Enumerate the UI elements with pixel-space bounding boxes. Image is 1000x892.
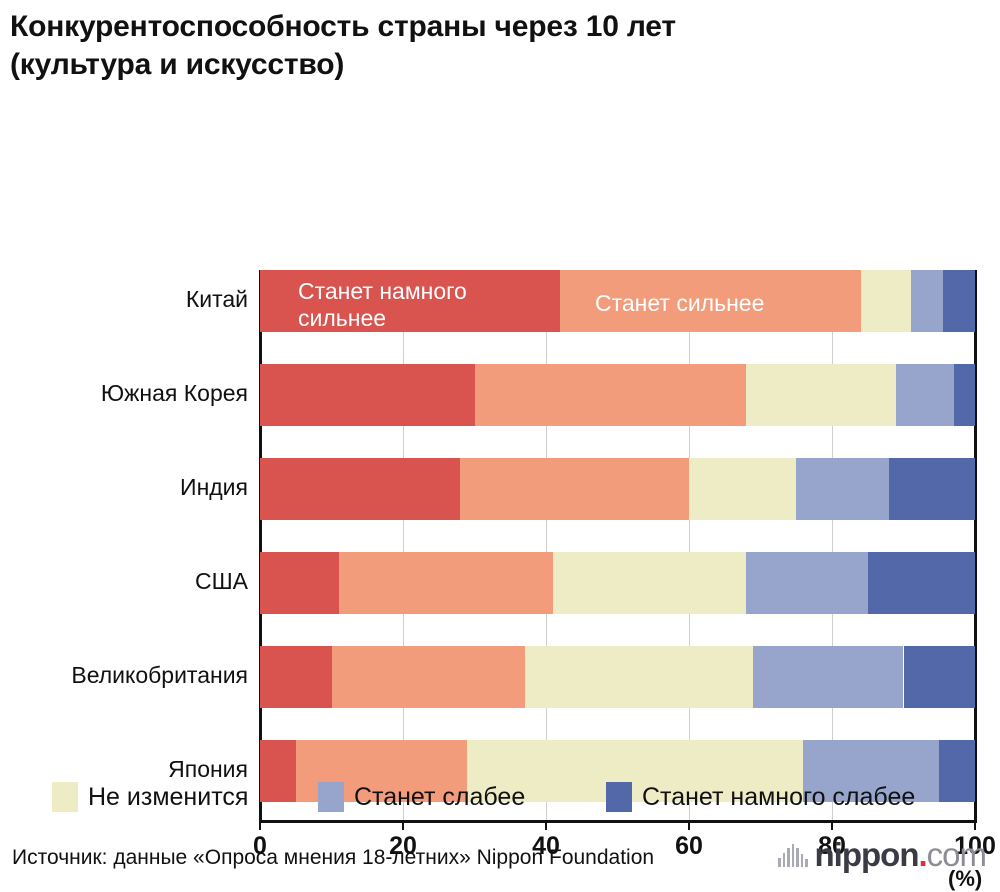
legend-item: Станет слабее xyxy=(318,782,525,812)
chart-container: 020406080100 (%) КитайЮжная КореяИндияСШ… xyxy=(0,130,1000,705)
bar-segment xyxy=(746,552,868,614)
page-title: Конкурентоспособность страны через 10 ле… xyxy=(10,8,970,85)
bar-segment xyxy=(475,364,747,426)
bar-segment xyxy=(260,364,475,426)
bar-segment xyxy=(460,458,689,520)
legend-swatch xyxy=(318,782,344,812)
bar-segment xyxy=(896,364,953,426)
bar-segment xyxy=(260,458,460,520)
bar-segment xyxy=(904,646,976,708)
category-label: США xyxy=(195,570,248,593)
bar-segment xyxy=(746,364,896,426)
tick-mark xyxy=(545,821,547,830)
bar-row xyxy=(260,364,975,426)
tick-mark xyxy=(259,821,261,830)
category-label: Великобритания xyxy=(71,664,248,687)
bar-segment xyxy=(796,458,889,520)
legend-swatch xyxy=(52,782,78,812)
logo-suffix: com xyxy=(927,836,986,873)
legend-item: Станет намного слабее xyxy=(606,782,915,812)
tick-mark xyxy=(831,821,833,830)
plot-right-border xyxy=(974,270,977,821)
bar-row xyxy=(260,646,975,708)
category-label: Южная Корея xyxy=(101,382,248,405)
logo-dot: . xyxy=(918,836,926,873)
logo-wave-icon xyxy=(778,843,808,867)
bar-segment xyxy=(868,552,975,614)
bar-segment xyxy=(339,552,554,614)
gridline xyxy=(689,270,690,821)
bar-row xyxy=(260,458,975,520)
bar-segment xyxy=(260,552,339,614)
gridline xyxy=(403,270,404,821)
inbar-label-stronger: Станет сильнее xyxy=(595,290,764,317)
bar-segment xyxy=(689,458,796,520)
category-label: Китай xyxy=(186,288,248,311)
bar-segment xyxy=(861,270,911,332)
bar-segment xyxy=(553,552,746,614)
title-line: Конкурентоспособность страны через 10 ле… xyxy=(10,8,970,46)
bar-segment xyxy=(525,646,754,708)
legend-label: Станет намного слабее xyxy=(642,783,915,812)
source-note: Источник: данные «Опроса мнения 18-летни… xyxy=(12,846,654,870)
bar-segment xyxy=(753,646,903,708)
bar-segment xyxy=(889,458,975,520)
bar-segment xyxy=(260,646,332,708)
title-line: (культура и искусство) xyxy=(10,46,970,84)
bar-segment xyxy=(954,364,975,426)
chart-legend: Не изменитсяСтанет слабееСтанет намного … xyxy=(0,782,1000,822)
bar-segment xyxy=(911,270,943,332)
bar-segment xyxy=(943,270,975,332)
inbar-label-much-stronger: Станет намного сильнее xyxy=(298,278,467,332)
category-label: Индия xyxy=(180,476,248,499)
y-axis-line xyxy=(259,270,262,821)
legend-label: Не изменится xyxy=(88,783,248,812)
legend-swatch xyxy=(606,782,632,812)
tick-mark xyxy=(402,821,404,830)
nippon-logo: nippon.com xyxy=(778,838,986,871)
bar-segment xyxy=(332,646,525,708)
bar-row xyxy=(260,552,975,614)
legend-label: Станет слабее xyxy=(354,783,525,812)
category-label: Япония xyxy=(168,758,248,781)
gridline xyxy=(832,270,833,821)
logo-text: nippon.com xyxy=(815,838,986,871)
legend-item: Не изменится xyxy=(52,782,248,812)
tick-mark xyxy=(688,821,690,830)
gridline xyxy=(546,270,547,821)
x-tick-label: 60 xyxy=(675,832,703,861)
logo-name: nippon xyxy=(815,836,919,873)
tick-mark xyxy=(974,821,976,830)
